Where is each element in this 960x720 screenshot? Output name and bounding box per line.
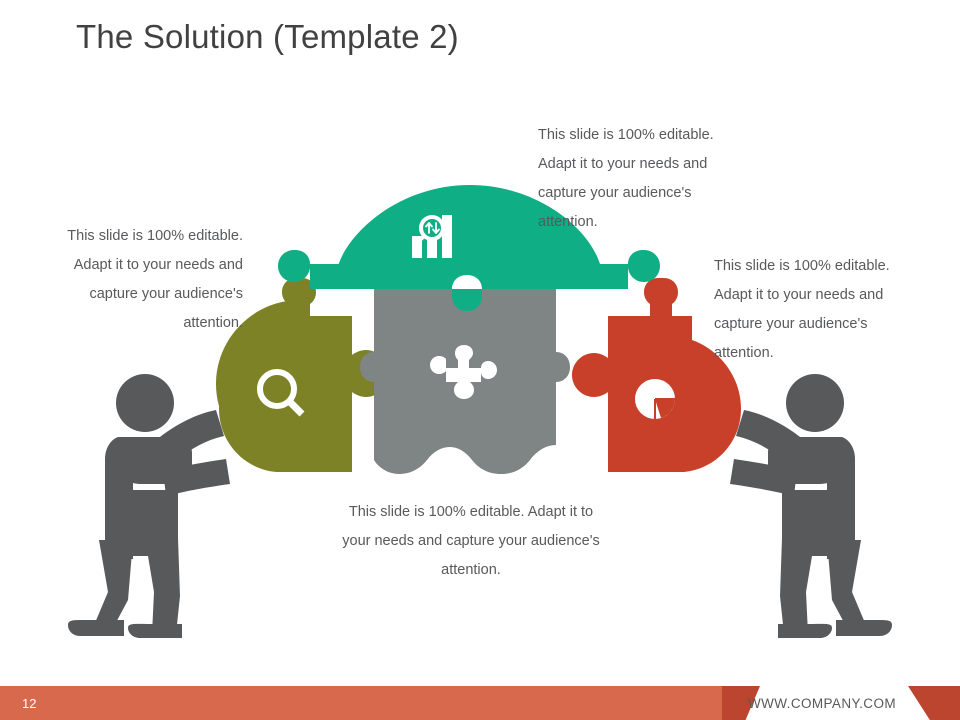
footer-chevron-right [908, 686, 960, 720]
person-right-icon [730, 374, 892, 638]
puzzle-piece-icon [430, 345, 497, 399]
bar-chart-magnifier-icon [412, 215, 452, 258]
magnifying-glass-icon [260, 372, 302, 414]
puzzle-piece-center [360, 288, 570, 474]
callout-text-bottom: This slide is 100% editable. Adapt it to… [336, 498, 606, 585]
footer-bar [0, 686, 736, 720]
slide-canvas: The Solution (Template 2) [0, 0, 960, 720]
callout-text-top: This slide is 100% editable. Adapt it to… [538, 121, 753, 237]
website-url: WWW.COMPANY.COM [748, 686, 896, 720]
person-left-icon [68, 374, 230, 638]
callout-text-right: This slide is 100% editable. Adapt it to… [714, 252, 919, 368]
page-title: The Solution (Template 2) [76, 18, 459, 56]
slide-footer: 12 WWW.COMPANY.COM [0, 686, 960, 720]
pie-chart-icon [635, 379, 675, 421]
callout-text-left: This slide is 100% editable. Adapt it to… [38, 222, 243, 338]
page-number: 12 [22, 686, 36, 720]
